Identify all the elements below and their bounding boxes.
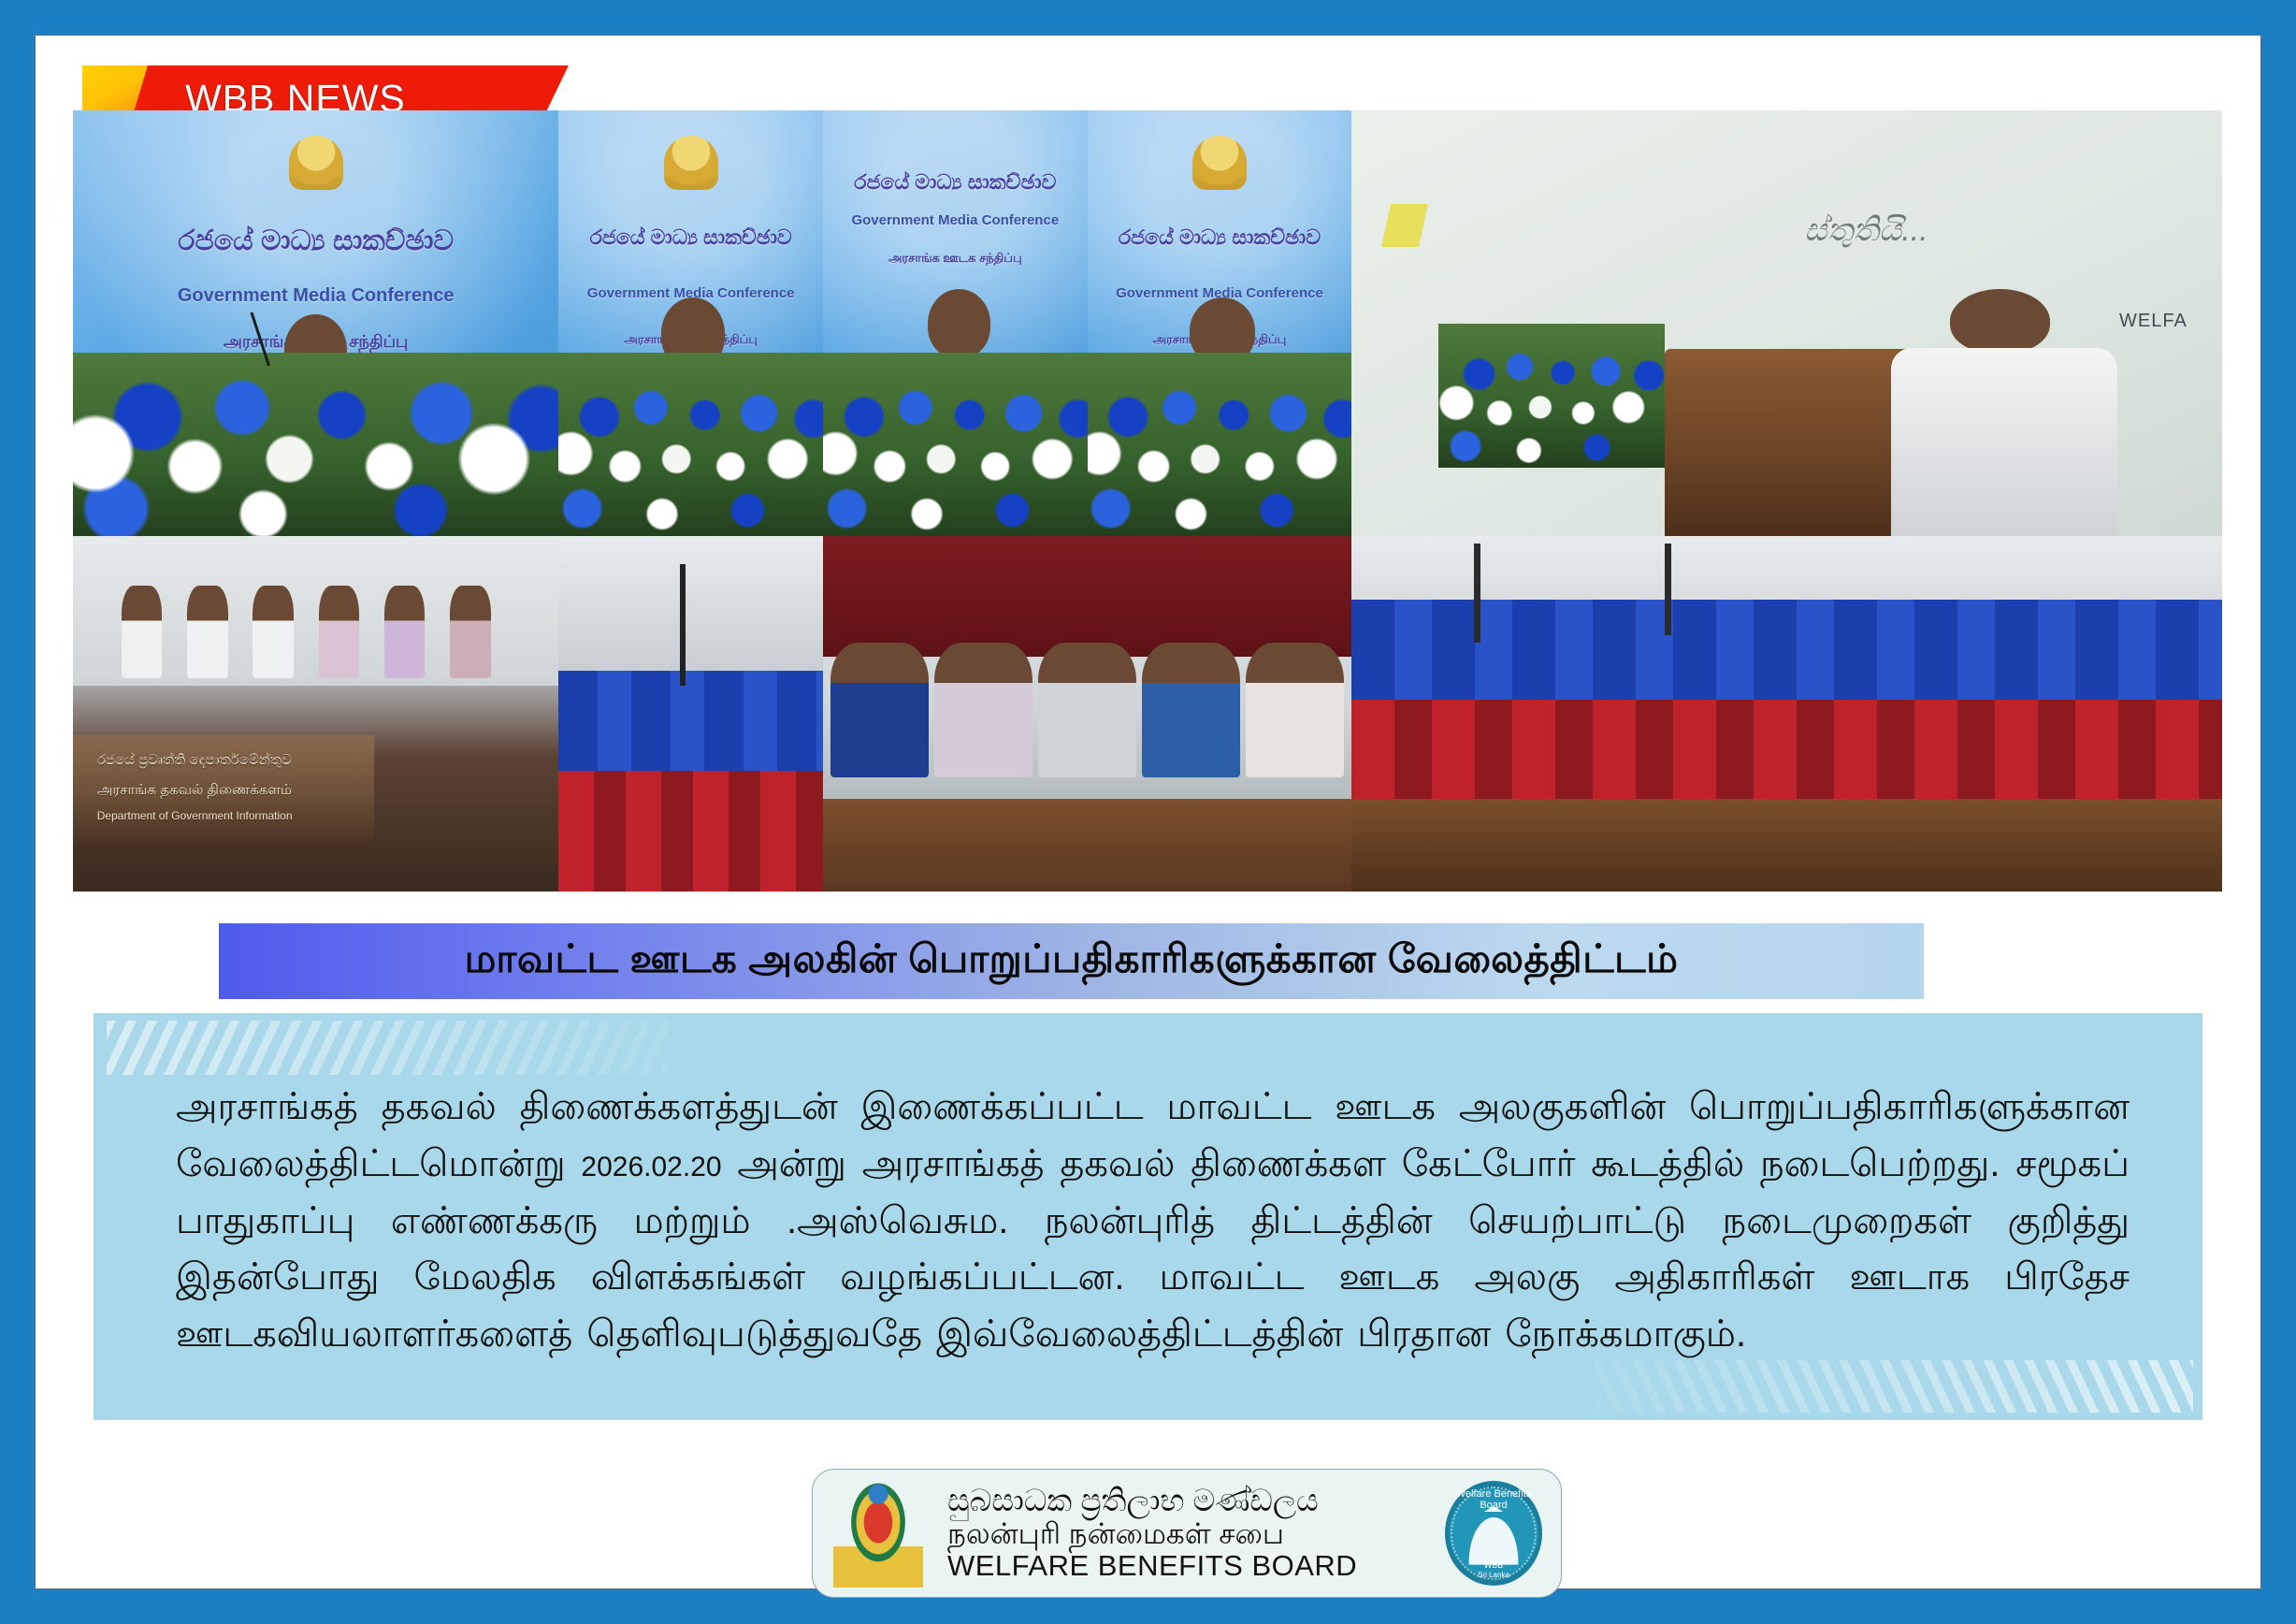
projector-welfare-text: WELFA <box>2119 311 2188 332</box>
speaker-figure <box>1891 289 2117 536</box>
photo-speaker-podium-3: රජයේ මාධ්‍ය සාකච්ඡාව Government Media Co… <box>823 110 1088 536</box>
photo-speaker-projector-screen: ස්තුතියි... WELFA <box>1351 110 2222 536</box>
welfare-benefits-board-logo-bar: සුබසාධක ප්‍රතිලාභ මණ්ඩලය நலன்புரி நன்மைக… <box>812 1469 1562 1598</box>
backdrop-english-1: Government Media Conference <box>73 285 558 307</box>
photo-speaker-podium-2: රජයේ මාධ්‍ය සාකච්ඡාව Government Media Co… <box>558 110 823 536</box>
poster-card: WBB NEWS රජයේ මාධ්‍ය සාකච්ඡාව Government… <box>36 36 2260 1588</box>
event-date: 2026.02.20 <box>581 1152 721 1182</box>
backdrop-sinhala-2: රජයේ මාධ්‍ය සාකච්ඡාව <box>558 225 823 250</box>
slide-accent-shape <box>1382 204 1429 247</box>
chevron-decoration-top-left-icon <box>107 1021 668 1075</box>
logo-mark-line1: WBB <box>1445 1560 1542 1570</box>
backdrop-tamil-3: அரசாங்க ஊடக சந்திப்பு <box>823 251 1088 267</box>
attendee-desks <box>823 799 1351 892</box>
photo-speaker-podium-1: රජයේ මාධ්‍ය සාකච්ඡාව Government Media Co… <box>73 110 558 536</box>
backdrop-sinhala-3: රජයේ මාධ්‍ය සාකච්ඡාව <box>823 170 1088 195</box>
logo-english-name: WELFARE BENEFITS BOARD <box>947 1550 1445 1583</box>
backdrop-sinhala-4: රජයේ මාධ්‍ය සාකච්ඡාව <box>1088 225 1352 250</box>
collage-row-2: රජයේ ප්‍රවෘත්ති දෙපාර්තමේන්තුව அரசாங்க த… <box>73 536 2222 892</box>
wbb-circular-logo-icon: Welfare Benefits Board WBB Sri Lanka <box>1445 1481 1542 1586</box>
logo-text-block: සුබසාධක ප්‍රතිලාභ මණ්ඩලය நலன்புரி நன்மைக… <box>923 1484 1445 1583</box>
auditorium-seats-blue <box>1351 600 2222 706</box>
article-title-bar: மாவட்ட ஊடக அலகின் பொறுப்பதிகாரிகளுக்கான … <box>219 923 1924 999</box>
camera-tripod-icon <box>680 564 686 685</box>
auditorium-seats-red <box>558 771 823 892</box>
backdrop-sinhala-1: රජයේ මාධ්‍ය සාකච්ඡාව <box>73 225 558 257</box>
page-title: மாவட்ட ஊடக அலகின் பொறுப்பதிகாரிகளுக்கான … <box>465 936 1679 987</box>
flower-arrangement <box>1438 324 1665 469</box>
backdrop-english-3: Government Media Conference <box>823 212 1088 228</box>
sign-sinhala: රජයේ ප්‍රවෘත්ති දෙපාර්තමේන්තුව <box>97 750 356 772</box>
sign-english: Department of Government Information <box>97 807 356 824</box>
flower-arrangement <box>73 353 558 536</box>
panelists-row <box>122 586 491 678</box>
logo-tamil-name: நலன்புரி நன்மைகள் சபை <box>947 1518 1445 1551</box>
collage-row-1: රජයේ මාධ්‍ය සාකච්ඡාව Government Media Co… <box>73 110 2222 536</box>
sri-lanka-emblem-icon <box>289 136 343 190</box>
photo-collage: රජයේ මාධ්‍ය සාකච්ඡාව Government Media Co… <box>73 110 2222 892</box>
sri-lanka-emblem-icon <box>664 136 718 190</box>
sri-lanka-national-emblem-icon <box>833 1479 923 1588</box>
hall-back-wall <box>823 536 1351 657</box>
photo-audience-front-rows <box>823 536 1351 892</box>
attendee-desks <box>1351 799 2222 892</box>
article-body-panel: அரசாங்கத் தகவல் திணைக்களத்துடன் இணைக்கப்… <box>94 1013 2202 1420</box>
auditorium-seats-red <box>1351 700 2222 799</box>
camera-tripod-icon <box>1474 544 1480 643</box>
logo-sinhala-name: සුබසාධක ප්‍රතිලාභ මණ්ඩලය <box>947 1484 1445 1518</box>
article-body-text: அரசாங்கத் தகவல் திணைக்களத்துடன் இணைக்கப்… <box>176 1079 2130 1363</box>
photo-audience-camera-crew <box>1351 536 2222 892</box>
photo-audience-blue-seats <box>558 536 823 892</box>
camera-tripod-icon <box>1665 544 1671 636</box>
government-information-signboard: රජයේ ප්‍රවෘත්ති දෙපාර්තමේන්තුව அரசாங்க த… <box>73 735 374 842</box>
flower-arrangement <box>558 353 823 536</box>
flower-arrangement <box>1088 353 1352 536</box>
photo-speaker-podium-4: රජයේ මාධ්‍ය සාකච්ඡාව Government Media Co… <box>1088 110 1352 536</box>
flower-arrangement <box>823 353 1088 536</box>
attendees-row <box>823 643 1351 777</box>
chevron-decoration-bottom-right-icon <box>1595 1360 2193 1413</box>
projector-thankyou-text: ස්තුතියි... <box>1804 212 1928 249</box>
photo-head-table-panel: රජයේ ප්‍රවෘත්ති දෙපාර්තමේන්තුව அரசாங்க த… <box>73 536 558 892</box>
sri-lanka-emblem-icon <box>1192 136 1247 190</box>
sign-tamil: அரசாங்க தகவல் திணைக்களம் <box>97 780 356 802</box>
logo-mark-line2: Sri Lanka <box>1445 1571 1542 1579</box>
